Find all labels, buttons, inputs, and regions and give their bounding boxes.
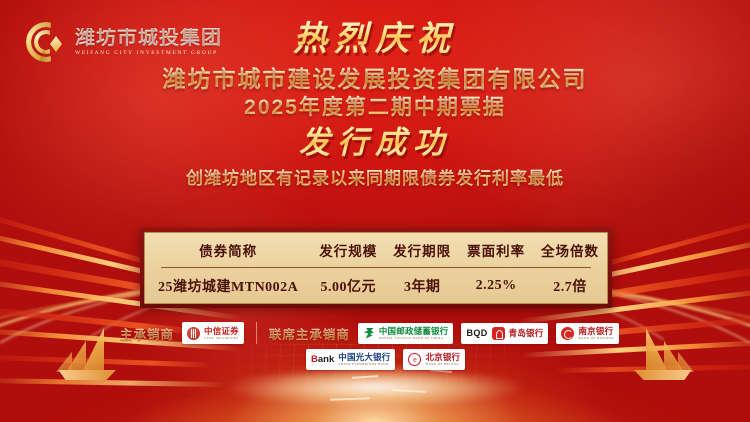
citic-name-cn: 中信证券	[204, 326, 239, 336]
nanjing-swirl-icon	[561, 327, 574, 340]
beijing-seal-icon	[408, 353, 421, 366]
bond-table: 债券简称 发行规模 发行期限 票面利率 全场倍数 25潍坊城建MTN002A 5…	[145, 234, 607, 302]
psbc-name-en: POSTAL SAVINGS BANK OF CHINA	[379, 336, 449, 341]
headline-celebrate: 热烈庆祝	[0, 20, 750, 60]
citic-seal-icon	[187, 327, 200, 340]
underwriter-logo-beijing: 北京银行 BANK OF BEIJING	[403, 349, 465, 370]
qingdao-bell-icon	[492, 327, 505, 340]
table-header-row: 债券简称 发行规模 发行期限 票面利率 全场倍数	[145, 234, 607, 267]
lead-underwriter-label: 主承销商	[120, 324, 174, 343]
bqd-abbr: BQD	[466, 328, 487, 338]
cell-term: 3年期	[385, 268, 459, 302]
bond-table-frame: 债券简称 发行规模 发行期限 票面利率 全场倍数 25潍坊城建MTN002A 5…	[140, 228, 612, 308]
everbright-name-en: CHINA EVERBRIGHT BANK	[338, 362, 390, 367]
qingdao-name-cn: 青岛银行	[509, 328, 544, 338]
headline-company: 潍坊市城市建设发展投资集团有限公司	[0, 64, 750, 94]
cell-issue-size: 5.00亿元	[311, 268, 385, 302]
underwriter-logo-citic: 中信证券 CITIC SECURITIES	[182, 322, 244, 344]
sailboat-icon	[56, 322, 120, 382]
nanjing-name-en: BANK OF NANJING	[578, 336, 614, 341]
joint-underwriter-label: 联席主承销商	[269, 324, 350, 343]
nanjing-name-cn: 南京银行	[578, 326, 614, 336]
citic-name-en: CITIC SECURITIES	[204, 336, 239, 341]
underwriter-logo-nanjing: 南京银行 BANK OF NANJING	[556, 323, 619, 344]
table-divider-row	[145, 267, 607, 268]
headline-claim: 创潍坊地区有记录以来同期限债券发行利率最低	[0, 167, 750, 191]
everbright-wordmark-icon: Bank	[311, 354, 334, 365]
table-row: 25潍坊城建MTN002A 5.00亿元 3年期 2.25% 2.7倍	[145, 268, 607, 302]
column-header-multiple: 全场倍数	[533, 234, 607, 267]
psbc-leaf-icon	[363, 327, 375, 340]
headline-note: 2025年度第二期中期票据	[0, 94, 750, 122]
underwriter-logo-psbc: 中国邮政储蓄银行 POSTAL SAVINGS BANK OF CHINA	[358, 323, 454, 344]
section-divider	[256, 322, 257, 344]
sailboat-icon	[630, 322, 694, 382]
underwriters-section: 主承销商 中信证券 CITIC SECURITIES 联席主承销商 中国邮政储蓄…	[120, 322, 630, 370]
everbright-name-cn: 中国光大银行	[338, 352, 390, 362]
beijing-name-en: BANK OF BEIJING	[425, 362, 460, 367]
column-header-bond-name: 债券简称	[145, 234, 311, 267]
table-divider	[161, 267, 591, 268]
headline-block: 热烈庆祝 潍坊市城市建设发展投资集团有限公司 2025年度第二期中期票据 发行成…	[0, 20, 750, 191]
headline-success: 发行成功	[0, 124, 750, 162]
cell-bond-name: 25潍坊城建MTN002A	[145, 268, 311, 302]
underwriter-logo-qingdao: BQD 青岛银行	[461, 323, 548, 344]
psbc-name-cn: 中国邮政储蓄银行	[379, 326, 449, 336]
cell-multiple: 2.7倍	[533, 268, 607, 302]
cell-coupon: 2.25%	[459, 268, 533, 302]
column-header-term: 发行期限	[385, 234, 459, 267]
underwriter-logo-everbright: Bank 中国光大银行 CHINA EVERBRIGHT BANK	[306, 349, 395, 370]
celebration-poster: 潍坊市城投集团 WEIFANG CITY INVESTMENT GROUP 热烈…	[0, 0, 750, 422]
beijing-name-cn: 北京银行	[425, 352, 460, 362]
column-header-coupon: 票面利率	[459, 234, 533, 267]
column-header-issue-size: 发行规模	[311, 234, 385, 267]
